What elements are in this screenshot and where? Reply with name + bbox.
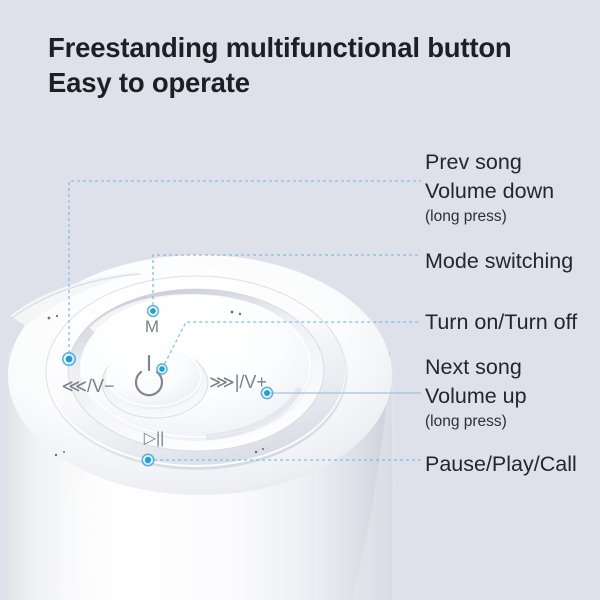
page-title-line-1: Freestanding multifunctional button [48,30,578,65]
annotation-mode-switching: Mode switching [425,247,573,276]
glyph-play-pause: ▷|| [144,430,165,447]
annotation-next-line-1: Next song [425,353,527,382]
annotation-turn-on-turn-off: Turn on/Turn off [425,308,577,337]
glyph-prev-volume-down: ⋘/V− [61,376,114,396]
annotation-prev-line-1: Prev song [425,148,554,177]
product-annotation-figure: M ⋘/V− ⋙|/V+ ▷|| [0,0,600,600]
annotation-next-line-2: Volume up [425,382,527,411]
power-button[interactable] [106,346,202,409]
glyph-mode: M [145,317,159,336]
page-title-line-2: Easy to operate [48,65,578,100]
annotation-prev-song-volume-down: Prev song Volume down (long press) [425,148,554,228]
annotation-prev-note: (long press) [425,206,554,228]
annotation-pause-line-1: Pause/Play/Call [425,450,577,479]
glyph-next-volume-up: ⋙|/V+ [209,372,267,392]
annotation-next-song-volume-up: Next song Volume up (long press) [425,353,527,433]
page-title: Freestanding multifunctional button Easy… [48,30,578,100]
annotation-mode-line-1: Mode switching [425,247,573,276]
annotation-next-note: (long press) [425,411,527,433]
annotation-power-line-1: Turn on/Turn off [425,308,577,337]
annotation-pause-play-call: Pause/Play/Call [425,450,577,479]
annotation-prev-line-2: Volume down [425,177,554,206]
